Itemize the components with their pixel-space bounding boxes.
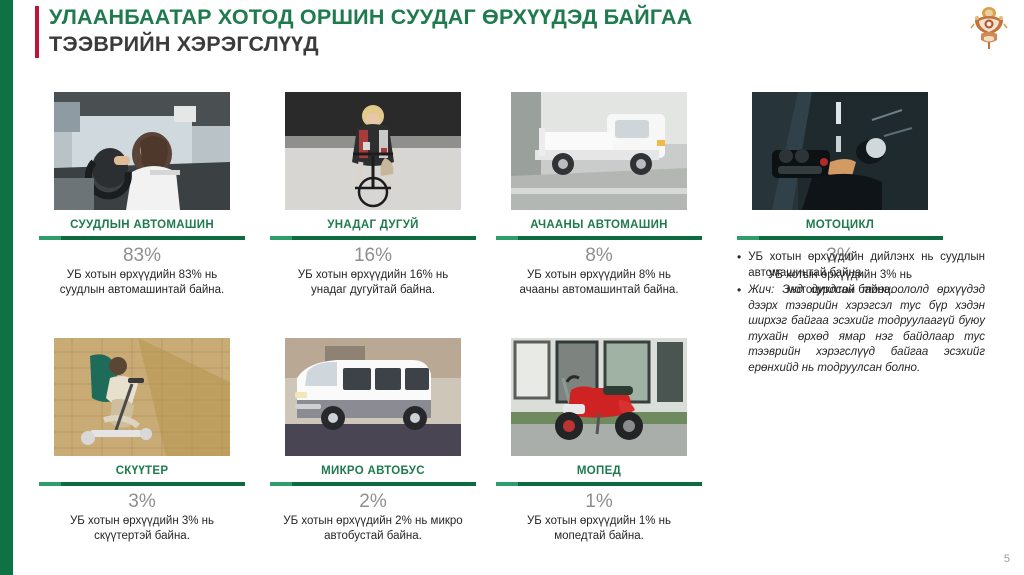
card-rule-segment [270, 482, 292, 486]
card-rule-segment [39, 236, 61, 240]
card-description: УБ хотын өрхүүдийн 8% нь ачааны автомаши… [506, 268, 692, 298]
card-label: УНАДАГ ДУГУЙ [262, 218, 484, 232]
card-rule [270, 482, 476, 486]
card-rule-segment [270, 236, 292, 240]
card-percent: 1% [488, 490, 710, 513]
card-percent: 3% [31, 490, 253, 513]
card-rule-segment [737, 236, 759, 240]
page-title-line1: УЛААНБААТАР ХОТОД ОРШИН СУУДАГ ӨРХҮҮДЭД … [49, 4, 692, 30]
card-achaany-avtomashin[interactable]: АЧААНЫ АВТОМАШИН 8% УБ хотын өрхүүдийн 8… [488, 92, 710, 298]
photo-scooter-rider-overhead [54, 338, 230, 456]
card-percent: 2% [262, 490, 484, 513]
card-rule-segment [496, 236, 518, 240]
card-rule [39, 236, 245, 240]
page-title-line2: ТЭЭВРИЙН ХЭРЭГСЛҮҮД [49, 30, 692, 59]
notes-panel: • УБ хотын өрхүүдийн дийлэнх нь суудлын … [735, 250, 985, 378]
card-label: МОПЕД [488, 464, 710, 478]
state-emblem-icon [969, 4, 1009, 50]
photo-white-flatbed-truck [511, 92, 687, 210]
bullet-icon: • [735, 250, 741, 266]
card-description: УБ хотын өрхүүдийн 16% нь унадаг дугуйта… [280, 268, 466, 298]
card-skuuter[interactable]: СКҮҮТЕР 3% УБ хотын өрхүүдийн 3% нь скүү… [31, 338, 253, 544]
card-mikro-avtobus[interactable]: МИКРО АВТОБУС 2% УБ хотын өрхүүдийн 2% н… [262, 338, 484, 544]
card-description: УБ хотын өрхүүдийн 2% нь микро автобуста… [280, 514, 466, 544]
card-unadag-duguy[interactable]: УНАДАГ ДУГУЙ 16% УБ хотын өрхүүдийн 16% … [262, 92, 484, 298]
card-moped[interactable]: МОПЕД 1% УБ хотын өрхүүдийн 1% нь мопедт… [488, 338, 710, 544]
photo-motorcycle-night-ride [752, 92, 928, 210]
card-description: УБ хотын өрхүүдийн 1% нь мопедтай байна. [506, 514, 692, 544]
card-percent: 16% [262, 244, 484, 267]
card-rule [737, 236, 943, 240]
note-text: УБ хотын өрхүүдийн дийлэнх нь суудлын ав… [748, 250, 985, 281]
photo-person-riding-bicycle [285, 92, 461, 210]
bullet-icon: • [735, 283, 741, 299]
card-description: УБ хотын өрхүүдийн 3% нь скүүтертэй байн… [49, 514, 235, 544]
card-label: АЧААНЫ АВТОМАШИН [488, 218, 710, 232]
card-rule-segment [496, 482, 518, 486]
photo-woman-driving-car [54, 92, 230, 210]
slide-header: УЛААНБААТАР ХОТОД ОРШИН СУУДАГ ӨРХҮҮДЭД … [13, 0, 1024, 82]
card-percent: 83% [31, 244, 253, 267]
card-rule [496, 236, 702, 240]
title-accent-bar [35, 6, 39, 58]
card-rule [39, 482, 245, 486]
card-rule [270, 236, 476, 240]
note-item: • Жич: Энд дурдсан тооцоололд өрхүүдэд д… [735, 283, 985, 376]
card-label: СКҮҮТЕР [31, 464, 253, 478]
card-suudlyn-avtomashin[interactable]: СУУДЛЫН АВТОМАШИН 83% УБ хотын өрхүүдийн… [31, 92, 253, 298]
note-item: • УБ хотын өрхүүдийн дийлэнх нь суудлын … [735, 250, 985, 281]
photo-red-moped [511, 338, 687, 456]
card-label: МИКРО АВТОБУС [262, 464, 484, 478]
card-rule-segment [39, 482, 61, 486]
card-label: МОТОЦИКЛ [729, 218, 951, 232]
photo-white-minibus-van [285, 338, 461, 456]
card-label: СУУДЛЫН АВТОМАШИН [31, 218, 253, 232]
left-accent-rail [0, 0, 13, 575]
card-percent: 8% [488, 244, 710, 267]
card-description: УБ хотын өрхүүдийн 83% нь суудлын автома… [49, 268, 235, 298]
card-rule [496, 482, 702, 486]
note-text-remark: Жич: Энд дурдсан тооцоололд өрхүүдэд дээ… [748, 283, 985, 376]
page-title: УЛААНБААТАР ХОТОД ОРШИН СУУДАГ ӨРХҮҮДЭД … [49, 4, 692, 59]
